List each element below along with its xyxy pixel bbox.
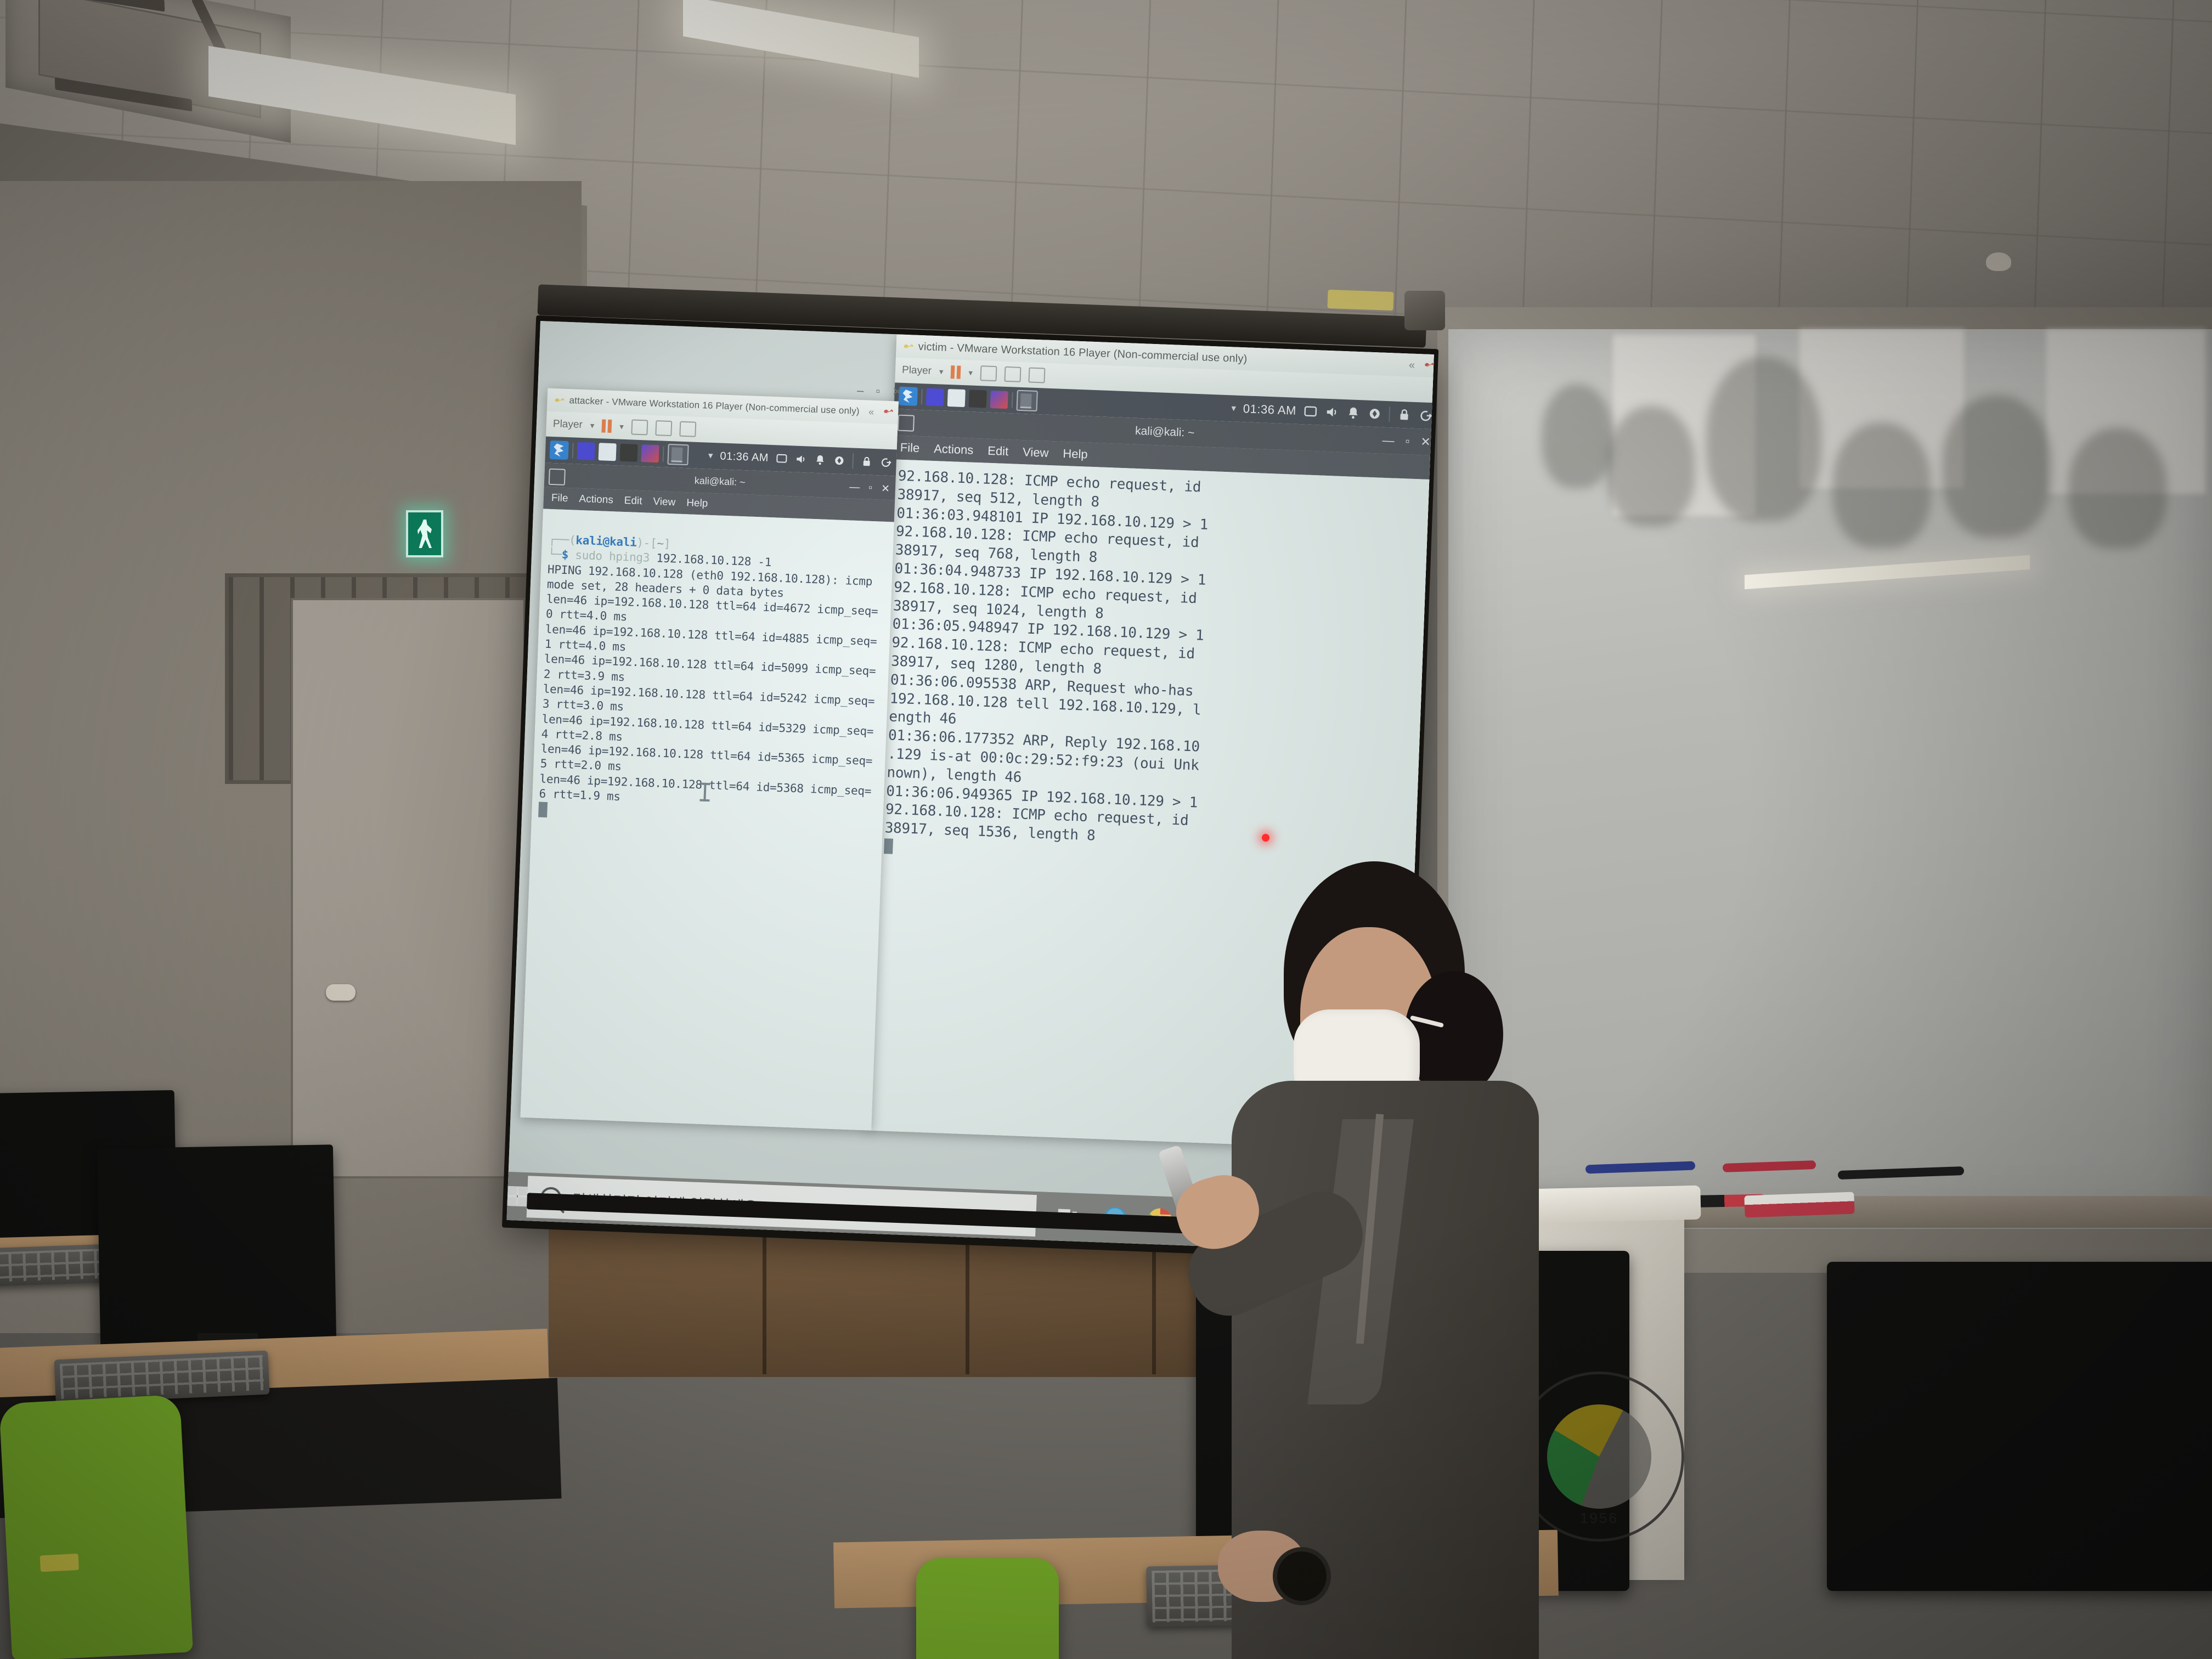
victim-terminal-title: kali@kali: ~ — [1135, 425, 1195, 440]
menu-view[interactable]: View — [653, 496, 676, 509]
chevron-down-icon[interactable]: ▾ — [708, 450, 713, 461]
menu-actions[interactable]: Actions — [579, 493, 613, 506]
network-icon[interactable] — [833, 454, 845, 467]
command-name: hping3 — [609, 550, 650, 565]
volume-icon[interactable] — [1324, 405, 1339, 420]
close-icon[interactable]: ✕ — [1420, 435, 1431, 449]
presenter-hair-bun — [1404, 971, 1503, 1097]
command-sudo: sudo — [575, 549, 602, 563]
vmware-key-icon — [552, 394, 565, 407]
panel-separator — [1012, 392, 1013, 408]
menu-edit[interactable]: Edit — [624, 495, 642, 507]
kali-clock[interactable]: 01:36 AM — [1243, 402, 1296, 418]
lock-icon[interactable] — [860, 455, 873, 468]
text-cursor — [884, 838, 893, 854]
attacker-hping3-output[interactable]: ┌──(kali@kali)-[~] └─$ sudo hping3 192.1… — [521, 509, 894, 1130]
files-icon[interactable] — [599, 443, 617, 461]
attacker-window-title: attacker - VMware Workstation 16 Player … — [569, 395, 860, 417]
minimize-icon[interactable]: — — [1382, 433, 1395, 448]
screen-mount-bracket — [1327, 290, 1393, 311]
attacker-terminal-controls[interactable]: — ▫ ✕ — [849, 474, 890, 502]
student-keyboard[interactable] — [54, 1351, 269, 1404]
panel-separator — [921, 389, 923, 404]
burp-icon[interactable] — [990, 391, 1008, 409]
whiteboard — [1448, 329, 2212, 1229]
windows-logo-icon — [507, 1186, 527, 1206]
lecturer-chair[interactable] — [916, 1558, 1059, 1659]
minimize-icon[interactable]: – — [857, 383, 864, 398]
university-founding-year: 1956 — [1580, 1510, 1618, 1527]
student-chair[interactable] — [0, 1395, 193, 1659]
whiteboard-eraser[interactable] — [1744, 1192, 1854, 1218]
full-screen-icon[interactable] — [655, 420, 672, 436]
vmware-key-icon — [1423, 358, 1434, 374]
victim-terminal-controls[interactable]: — ▫ ✕ — [1382, 427, 1431, 455]
workspace-switcher-icon[interactable] — [1016, 390, 1037, 411]
minimize-icon[interactable]: — — [849, 481, 860, 494]
audience-silhouette — [1832, 422, 1931, 549]
audience-silhouette — [1607, 406, 1695, 527]
browser-icon[interactable] — [620, 444, 638, 462]
menu-view[interactable]: View — [1023, 445, 1049, 460]
bell-icon[interactable] — [814, 454, 826, 466]
audience-silhouette — [2068, 428, 2167, 549]
suspend-icon[interactable] — [602, 419, 612, 433]
close-icon[interactable]: ✕ — [881, 482, 890, 495]
logout-icon[interactable] — [1418, 408, 1433, 423]
logout-icon[interactable] — [879, 456, 892, 469]
emergency-exit-sign — [406, 510, 443, 557]
unity-mode-icon[interactable] — [679, 421, 696, 437]
chevron-down-icon[interactable]: ▾ — [619, 422, 624, 432]
laser-pointer-dot — [1262, 834, 1269, 842]
panel-separator — [852, 454, 854, 469]
audience-silhouette — [1706, 357, 1821, 521]
menu-edit[interactable]: Edit — [988, 444, 1009, 459]
menu-file[interactable]: File — [551, 492, 568, 505]
screen-housing-end-cap — [1404, 291, 1445, 330]
notification-area-icon[interactable] — [776, 452, 788, 465]
door-handle[interactable] — [326, 984, 356, 1001]
maximize-icon[interactable]: ▫ — [1405, 434, 1410, 448]
network-icon[interactable] — [1367, 407, 1382, 421]
menu-help[interactable]: Help — [1063, 447, 1088, 462]
notification-area-icon[interactable] — [1303, 404, 1318, 419]
terminal-icon[interactable] — [926, 388, 944, 406]
start-button[interactable] — [506, 1172, 528, 1221]
collapse-toolbar-icon[interactable]: « — [868, 406, 874, 417]
browser-icon[interactable] — [969, 390, 987, 408]
suspend-icon[interactable] — [951, 365, 961, 379]
files-icon[interactable] — [947, 389, 966, 407]
reflected-light — [1745, 555, 2030, 589]
keyboard-keys — [60, 1355, 264, 1399]
kali-clock[interactable]: 01:36 AM — [720, 450, 769, 464]
chevron-down-icon[interactable]: ▾ — [968, 368, 973, 377]
panel-separator — [1389, 407, 1390, 422]
player-menu-button[interactable]: Player — [902, 364, 932, 377]
presenter — [1201, 861, 1553, 1659]
attacker-window-controls[interactable]: – ▫ ✕ — [857, 383, 902, 399]
university-emblem — [1547, 1404, 1651, 1509]
student-monitor — [97, 1144, 336, 1346]
kali-dragon-icon[interactable] — [550, 441, 569, 460]
classroom-door[interactable] — [291, 598, 526, 1178]
prompt-path: ~ — [657, 537, 664, 550]
vmware-key-icon — [901, 340, 914, 353]
lock-icon[interactable] — [1397, 408, 1412, 422]
chair-seat-label — [39, 1554, 78, 1572]
chevron-down-icon[interactable]: ▾ — [590, 421, 594, 431]
burp-icon[interactable] — [641, 444, 659, 462]
running-man-icon — [417, 520, 432, 548]
bell-icon[interactable] — [1346, 405, 1361, 420]
panel-separator — [572, 443, 574, 458]
player-menu-button[interactable]: Player — [553, 418, 583, 431]
smoke-detector — [1986, 252, 2011, 271]
classroom-scene: – ▫ ✕ victim - VMware Workstation 16 Pla… — [0, 0, 2212, 1659]
menu-help[interactable]: Help — [686, 497, 708, 510]
text-cursor — [538, 802, 548, 818]
send-ctrl-alt-del-icon[interactable] — [980, 365, 997, 381]
panel-separator — [663, 447, 664, 462]
maximize-icon[interactable]: ▫ — [868, 482, 873, 494]
chevron-down-icon[interactable]: ▾ — [939, 366, 944, 376]
maximize-icon[interactable]: ▫ — [876, 384, 881, 398]
close-icon[interactable]: ✕ — [892, 385, 902, 399]
workspace-switcher-icon[interactable] — [667, 444, 689, 465]
audience-silhouette — [1542, 384, 1613, 488]
victim-title-right-icons[interactable]: « — [1408, 353, 1434, 377]
send-ctrl-alt-del-icon[interactable] — [631, 419, 648, 435]
student-monitor-right — [1827, 1262, 2212, 1591]
attacker-terminal-title: kali@kali: ~ — [694, 475, 746, 488]
wristwatch — [1273, 1547, 1331, 1605]
attacker-terminal-window[interactable]: kali@kali: ~ — ▫ ✕ File Actions Edit Vie — [521, 462, 896, 1130]
vmware-window-attacker[interactable]: – ▫ ✕ attacker - VMware Workstation 16 P… — [521, 388, 899, 1131]
menu-actions[interactable]: Actions — [934, 442, 974, 458]
volume-icon[interactable] — [794, 453, 807, 466]
prompt-user: kali@kali — [575, 534, 637, 549]
collapse-toolbar-icon[interactable]: « — [1409, 359, 1415, 371]
full-screen-icon[interactable] — [1004, 366, 1021, 382]
terminal-window-icon — [898, 415, 915, 432]
terminal-icon[interactable] — [577, 442, 595, 460]
chevron-down-icon[interactable]: ▾ — [1231, 403, 1236, 414]
unity-mode-icon[interactable] — [1028, 367, 1045, 383]
audience-silhouette — [1942, 395, 2052, 538]
vmware-key-icon — [882, 405, 894, 420]
terminal-window-icon — [549, 469, 566, 486]
attacker-title-right-icons[interactable]: « — [868, 400, 894, 425]
menu-file[interactable]: File — [900, 441, 919, 455]
